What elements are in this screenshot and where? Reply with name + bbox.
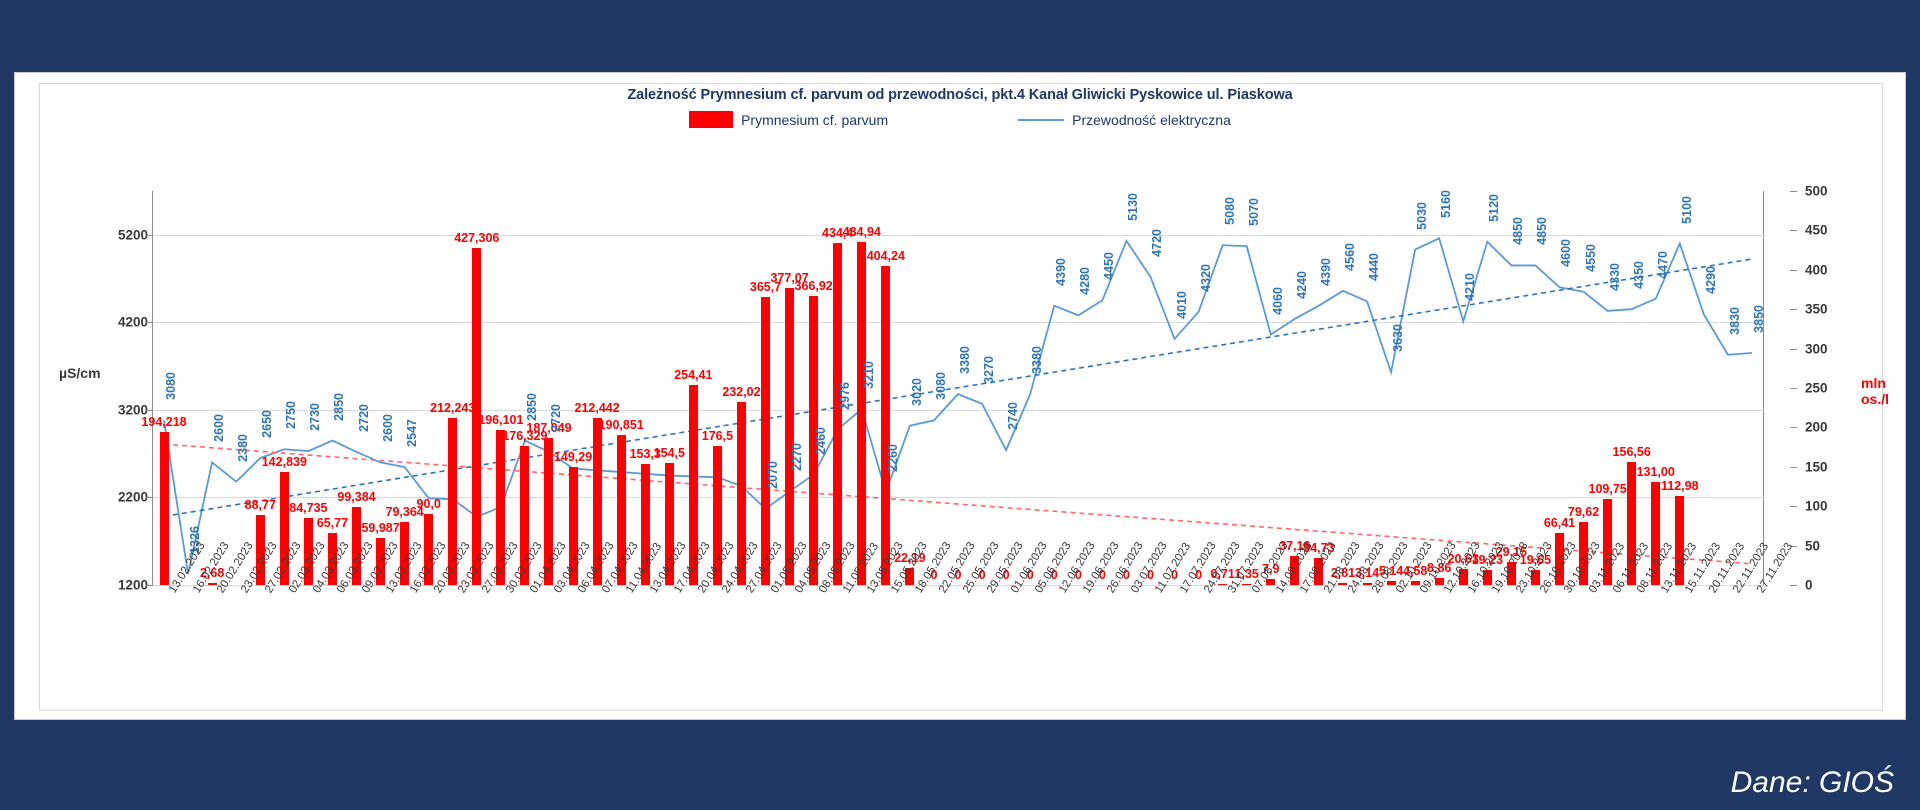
conductivity-value-label: 2730 [308,403,322,431]
y-left-tick-mark [146,585,153,586]
conductivity-value-label: 4390 [1054,258,1068,286]
conductivity-value-label: 4350 [1632,261,1646,289]
y-right-tick-mark [1790,506,1797,507]
bar-value-label: 90,0 [417,497,441,511]
conductivity-value-label: 3380 [1030,346,1044,374]
y-right-tick-label: 450 [1805,223,1828,238]
bar-value-label: 196,101 [478,413,523,427]
bar-value-label: 59,987 [361,521,399,535]
plot-area: 194,2182,6888,77142,83984,73565,7799,384… [152,191,1764,585]
conductivity-value-label: 4470 [1656,251,1670,279]
conductivity-value-label: 2740 [1006,402,1020,430]
conductivity-value-label: 4450 [1102,252,1116,280]
conductivity-value-label: 4330 [1608,263,1622,291]
y-right-tick-label: 200 [1805,420,1828,435]
conductivity-value-label: 5070 [1247,198,1261,226]
conductivity-value-label: 2720 [549,404,563,432]
bar-value-label: 194,218 [141,415,186,429]
conductivity-value-label: 5130 [1126,193,1140,221]
y-left-tick-label: 2200 [28,490,148,505]
y-left-tick-mark [146,497,153,498]
bar[interactable] [208,583,217,585]
conductivity-value-label: 4240 [1295,271,1309,299]
conductivity-value-label: 2850 [525,393,539,421]
bar[interactable] [761,297,770,585]
conductivity-value-label: 5120 [1487,194,1501,222]
conductivity-value-label: 2720 [357,404,371,432]
conductivity-value-label: 2600 [381,414,395,442]
y-right-tick-label: 0 [1805,578,1813,593]
conductivity-value-label: 3380 [958,346,972,374]
y-left-tick-mark [146,322,153,323]
conductivity-value-label: 2547 [405,419,419,447]
chart-title: Zależność Prymnesium cf. parvum od przew… [15,87,1905,103]
bar-value-label: 65,77 [317,516,348,530]
conductivity-value-label: 2600 [212,414,226,442]
conductivity-value-label: 4440 [1367,253,1381,281]
conductivity-value-label: 2850 [332,393,346,421]
conductivity-value-label: 2380 [236,434,250,462]
y-left-tick-mark [146,410,153,411]
bar-value-label: 99,384 [337,490,375,504]
y-right-tick-mark [1790,388,1797,389]
conductivity-value-label: 4550 [1584,244,1598,272]
conductivity-value-label: 4850 [1511,217,1525,245]
conductivity-value-label: 4290 [1704,266,1718,294]
conductivity-value-label: 3630 [1391,324,1405,352]
legend-bar-swatch-icon [689,111,733,128]
conductivity-value-label: 4210 [1463,273,1477,301]
y-axis-left-label: µS/cm [59,365,101,381]
legend-label-przewodnosc: Przewodność elektryczna [1072,112,1231,128]
bar[interactable] [833,243,842,585]
conductivity-value-label: 4720 [1150,229,1164,257]
y-right-tick-label: 100 [1805,499,1828,514]
y-right-tick-mark [1790,349,1797,350]
conductivity-value-label: 2260 [886,444,900,472]
bar-value-label: 112,98 [1661,479,1699,493]
y-right-tick-label: 50 [1805,538,1820,553]
bar-value-label: 84,735 [289,501,327,515]
y-right-tick-label: 350 [1805,302,1828,317]
y-right-tick-mark [1790,309,1797,310]
bar-value-label: 154,5 [654,446,685,460]
bar-value-label: 131,00 [1637,465,1675,479]
conductivity-value-label: 3210 [862,361,876,389]
source-note: Dane: GIOŚ [1731,766,1894,800]
y-left-tick-mark [146,235,153,236]
y-axis-right-label: mln os./l [1861,375,1905,407]
bar-value-label: 232,02 [722,385,760,399]
bar-value-label: 212,442 [575,401,620,415]
y-right-tick-label: 150 [1805,459,1828,474]
y-right-tick-label: 400 [1805,262,1828,277]
y-right-tick-mark [1790,467,1797,468]
bar-value-label: 79,62 [1568,505,1599,519]
bar-value-label: 142,839 [262,455,307,469]
conductivity-value-label: 3080 [934,372,948,400]
conductivity-value-label: 4850 [1535,217,1549,245]
conductivity-value-label: 3830 [1728,307,1742,335]
bar-value-label: 190,851 [599,418,644,432]
conductivity-value-label: 2650 [260,410,274,438]
bar-value-label: 149,29 [554,450,592,464]
conductivity-value-label: 2976 [838,382,852,410]
conductivity-value-label: 4560 [1343,243,1357,271]
y-right-tick-mark [1790,270,1797,271]
conductivity-value-label: 4320 [1199,264,1213,292]
conductivity-value-label: 2750 [284,401,298,429]
bar-value-label: 88,77 [245,498,276,512]
bar[interactable] [1242,584,1251,585]
conductivity-value-label: 4060 [1271,287,1285,315]
conductivity-value-label: 2070 [766,461,780,489]
conductivity-value-label: 3080 [164,372,178,400]
conductivity-value-label: 5030 [1415,202,1429,230]
y-right-tick-label: 300 [1805,341,1828,356]
y-right-tick-mark [1790,427,1797,428]
conductivity-value-label: 3270 [982,356,996,384]
y-right-tick-mark [1790,230,1797,231]
conductivity-value-label: 5160 [1439,190,1453,218]
bar-value-label: 109,75 [1588,482,1626,496]
slide-root: Zależność Prymnesium cf. parvum od przew… [0,0,1920,810]
bar[interactable] [1218,584,1227,585]
bar-value-label: 176,5 [702,429,733,443]
y-left-tick-label: 5200 [28,227,148,242]
trendline-przewodnosc [164,259,1752,516]
bar-value-label: 427,306 [454,231,499,245]
bar-value-label: 212,243 [430,401,475,415]
bar-value-label: 434,94 [843,225,881,239]
bar[interactable] [881,266,890,585]
y-left-tick-label: 3200 [28,402,148,417]
bar-value-label: 156,56 [1613,445,1651,459]
conductivity-value-label: 2270 [790,443,804,471]
bar-value-label: 254,41 [674,368,712,382]
bar-value-label: 366,92 [795,279,833,293]
bar[interactable] [857,242,866,585]
y-right-tick-label: 250 [1805,381,1828,396]
conductivity-value-label: 4600 [1559,239,1573,267]
bar[interactable] [160,432,169,585]
conductivity-value-label: 4280 [1078,267,1092,295]
y-right-tick-mark [1790,191,1797,192]
conductivity-value-label: 5080 [1223,197,1237,225]
conductivity-value-label: 3850 [1752,305,1766,333]
bar[interactable] [785,288,794,585]
conductivity-value-label: 5100 [1680,196,1694,224]
chart-card: Zależność Prymnesium cf. parvum od przew… [14,72,1906,720]
bar-value-label: 404,24 [867,249,905,263]
conductivity-value-label: 2460 [814,427,828,455]
y-right-tick-mark [1790,585,1797,586]
y-left-tick-label: 1200 [28,578,148,593]
x-axis-labels: 13.02.202316.02.202320.02.202323.02.2023… [152,589,1764,689]
y-left-tick-label: 4200 [28,315,148,330]
legend-line-swatch-icon [1018,119,1064,121]
chart-legend: Prymnesium cf. parvum Przewodność elektr… [15,111,1905,128]
conductivity-value-label: 4010 [1175,291,1189,319]
legend-item-przewodnosc[interactable]: Przewodność elektryczna [1018,112,1231,128]
conductivity-value-label: 4390 [1319,258,1333,286]
legend-label-prymnesium: Prymnesium cf. parvum [741,112,888,128]
y-right-tick-label: 500 [1805,184,1828,199]
conductivity-value-label: 3020 [910,378,924,406]
legend-item-prymnesium[interactable]: Prymnesium cf. parvum [689,111,888,128]
